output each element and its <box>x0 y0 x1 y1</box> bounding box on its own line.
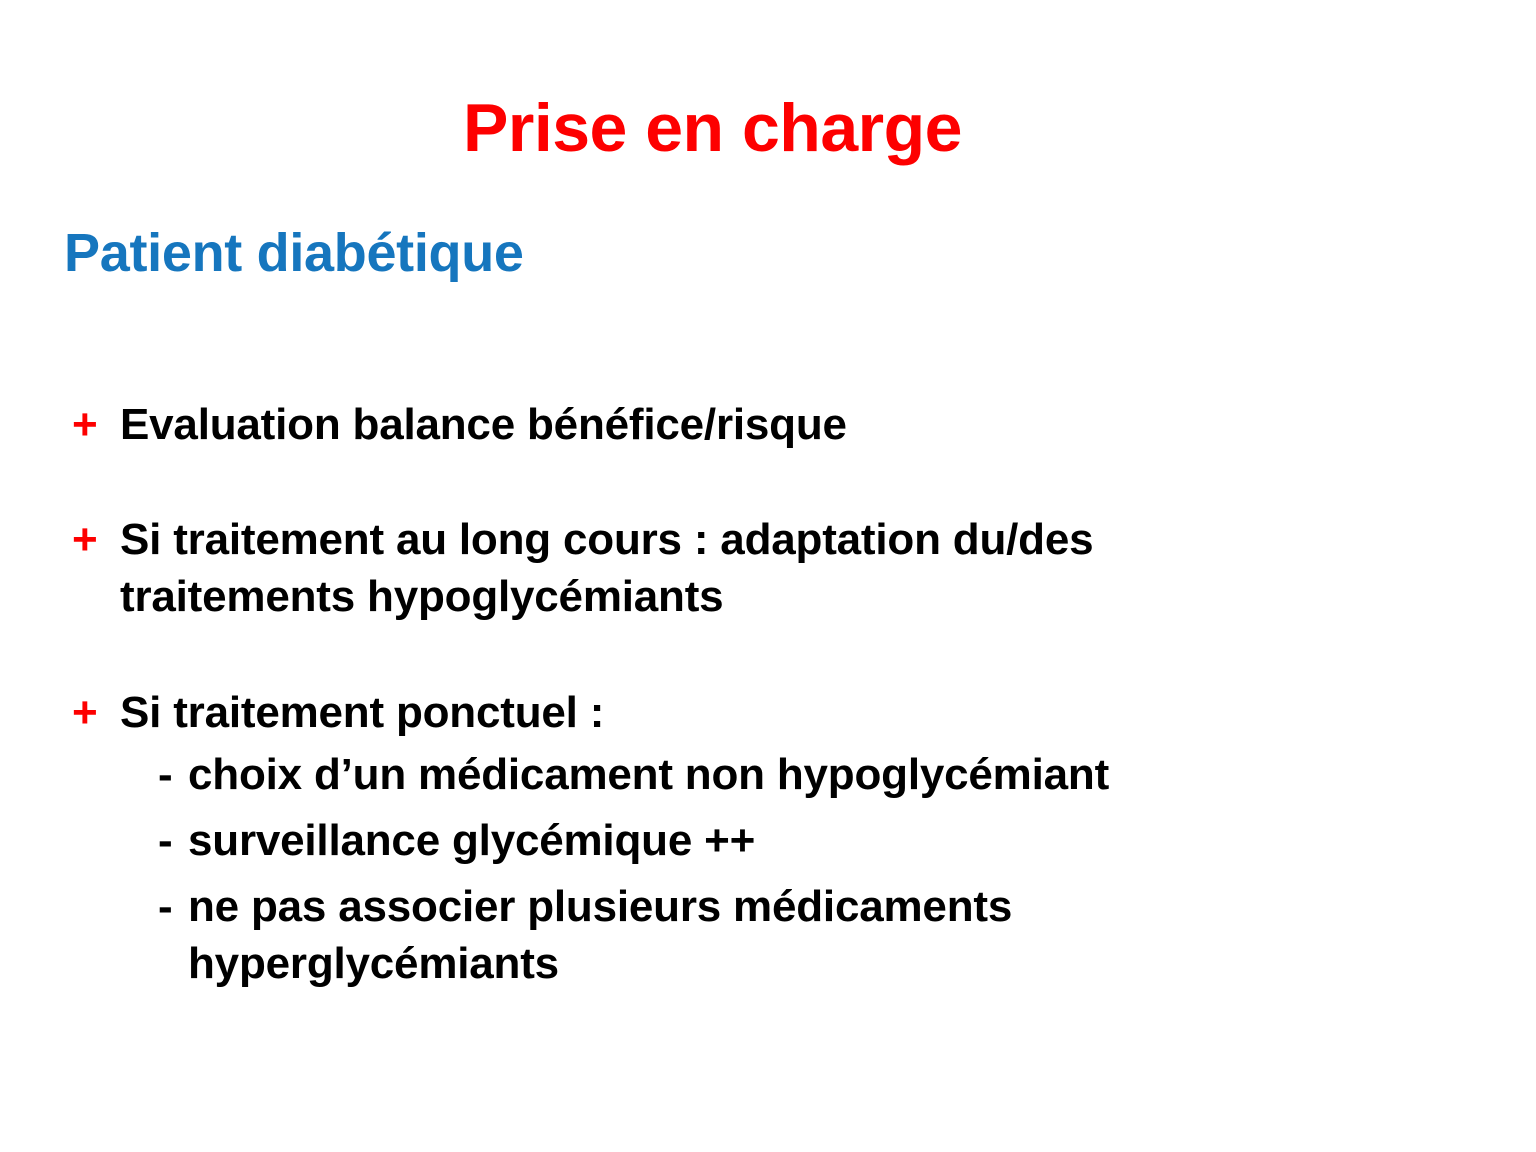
bullet-item-1: + Evaluation balance bénéfice/risque <box>72 396 1392 453</box>
sub-bullet-item-1: - choix d’un médicament non hypoglycémia… <box>158 747 1368 803</box>
page-title: Prise en charge <box>0 92 1425 164</box>
sub-bullet-item-2: - surveillance glycémique ++ <box>158 813 1368 869</box>
bullet-item-1-label: Evaluation balance bénéfice/risque <box>120 396 1330 453</box>
slide-subtitle: Patient diabétique <box>64 224 524 282</box>
plus-marker-icon: + <box>72 511 98 568</box>
bullet-item-3: + Si traitement ponctuel : <box>72 684 1392 741</box>
slide-canvas: Prise en charge Patient diabétique + Eva… <box>0 0 1536 1152</box>
sub-bullet-list: - choix d’un médicament non hypoglycémia… <box>72 747 1392 992</box>
bullet-item-2-label: Si traitement au long cours : adaptation… <box>120 511 1330 625</box>
dash-marker-icon: - <box>158 879 172 935</box>
bullet-item-3-label: Si traitement ponctuel : <box>120 684 1330 741</box>
bullet-item-2: + Si traitement au long cours : adaptati… <box>72 511 1392 625</box>
sub-bullet-item-3-label: ne pas associer plusieurs médicaments hy… <box>188 882 1012 987</box>
sub-bullet-item-2-label: surveillance glycémique ++ <box>188 816 755 865</box>
plus-marker-icon: + <box>72 684 98 741</box>
bullet-list: + Evaluation balance bénéfice/risque + S… <box>72 396 1392 992</box>
sub-bullet-item-1-label: choix d’un médicament non hypoglycémiant <box>188 750 1109 799</box>
sub-bullet-item-3: - ne pas associer plusieurs médicaments … <box>158 879 1368 992</box>
dash-marker-icon: - <box>158 813 172 869</box>
plus-marker-icon: + <box>72 396 98 453</box>
dash-marker-icon: - <box>158 747 172 803</box>
